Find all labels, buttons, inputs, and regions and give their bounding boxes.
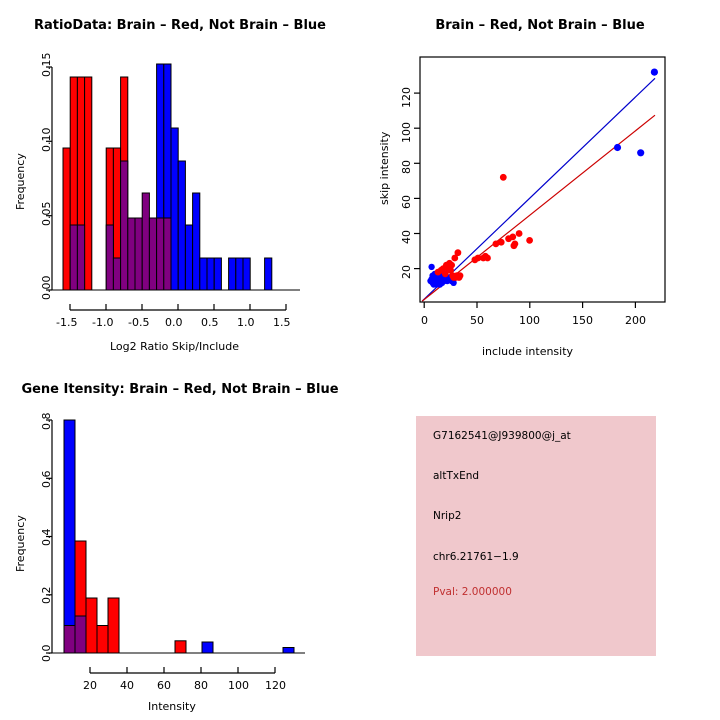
- scatter-red-points: [435, 174, 533, 281]
- info-gene-symbol: Nrip2: [433, 510, 461, 522]
- info-panel-background: [416, 416, 656, 656]
- gene-hist-xtick-5: 120: [265, 679, 286, 692]
- ratio-hist-ytick-1: 0.05: [40, 202, 53, 227]
- ratio-hist-xtick-4: 0.5: [201, 316, 219, 329]
- scatter-xtick-0: 0: [421, 314, 428, 327]
- ratio-hist-xtick-5: 1.0: [237, 316, 255, 329]
- panel-gene-histogram: Gene Itensity: Brain – Red, Not Brain – …: [0, 360, 360, 720]
- gene-hist-xtick-4: 100: [228, 679, 249, 692]
- scatter-xticks: [424, 302, 635, 308]
- panel-scatter: Brain – Red, Not Brain – Blue skip inten…: [360, 0, 720, 360]
- scatter-xtick-4: 200: [625, 314, 646, 327]
- info-locus: chr6.21761−1.9: [433, 551, 519, 563]
- ratio-hist-xtick-3: 0.0: [165, 316, 183, 329]
- ratio-hist-yaxis: [46, 67, 52, 290]
- info-event-type: altTxEnd: [433, 470, 479, 482]
- gene-hist-ytick-3: 0.6: [40, 471, 53, 489]
- gene-hist-ytick-4: 0.8: [40, 413, 53, 431]
- scatter-ytick-4: 100: [400, 122, 413, 143]
- scatter-plot-box: [420, 57, 665, 302]
- ratio-hist-xtick-1: -1.0: [92, 316, 113, 329]
- ratio-hist-xtick-6: 1.5: [273, 316, 291, 329]
- ratio-hist-xaxis: [70, 304, 286, 310]
- scatter-xlabel: include intensity: [482, 345, 573, 358]
- gene-hist-svg: [0, 360, 360, 690]
- ratio-hist-blue-bars: [157, 64, 272, 290]
- ratio-hist-ytick-0: 0.00: [40, 276, 53, 301]
- scatter-ytick-0: 20: [400, 265, 413, 279]
- gene-hist-xtick-0: 20: [83, 679, 97, 692]
- info-probe-id: G7162541@J939800@j_at: [433, 430, 571, 442]
- ratio-hist-xtick-0: -1.5: [56, 316, 77, 329]
- ratio-hist-ytick-2: 0.10: [40, 128, 53, 153]
- gene-hist-xtick-3: 80: [194, 679, 208, 692]
- ratio-hist-xtick-2: -0.5: [128, 316, 149, 329]
- gene-hist-xaxis: [90, 667, 275, 673]
- scatter-xtick-2: 100: [519, 314, 540, 327]
- scatter-xtick-3: 150: [572, 314, 593, 327]
- scatter-blue-fit-line: [422, 78, 655, 301]
- scatter-blue-points: [427, 69, 658, 288]
- scatter-ytick-1: 40: [400, 230, 413, 244]
- gene-hist-ytick-0: 0.0: [40, 645, 53, 663]
- scatter-xtick-1: 50: [470, 314, 484, 327]
- gene-hist-xtick-1: 40: [120, 679, 134, 692]
- panel-ratio-histogram: RatioData: Brain – Red, Not Brain – Blue…: [0, 0, 360, 360]
- ratio-hist-svg: [0, 0, 360, 330]
- gene-hist-blue-bars: [64, 420, 294, 653]
- gene-hist-ytick-2: 0.4: [40, 529, 53, 547]
- info-pval: Pval: 2.000000: [433, 586, 512, 598]
- scatter-ytick-5: 120: [400, 87, 413, 108]
- panel-info: G7162541@J939800@j_at altTxEnd Nrip2 chr…: [360, 360, 720, 720]
- gene-hist-red-bars: [75, 541, 186, 653]
- scatter-svg: [360, 0, 720, 340]
- gene-hist-xtick-2: 60: [157, 679, 171, 692]
- figure-canvas: RatioData: Brain – Red, Not Brain – Blue…: [0, 0, 720, 720]
- gene-hist-xlabel: Intensity: [148, 700, 196, 713]
- scatter-ytick-2: 60: [400, 195, 413, 209]
- scatter-yticks: [414, 93, 420, 269]
- ratio-hist-ytick-3: 0.15: [40, 53, 53, 78]
- ratio-hist-xlabel: Log2 Ratio Skip/Include: [110, 340, 239, 353]
- scatter-ytick-3: 80: [400, 160, 413, 174]
- gene-hist-ytick-1: 0.2: [40, 587, 53, 605]
- ratio-hist-overlap-top: [157, 218, 171, 290]
